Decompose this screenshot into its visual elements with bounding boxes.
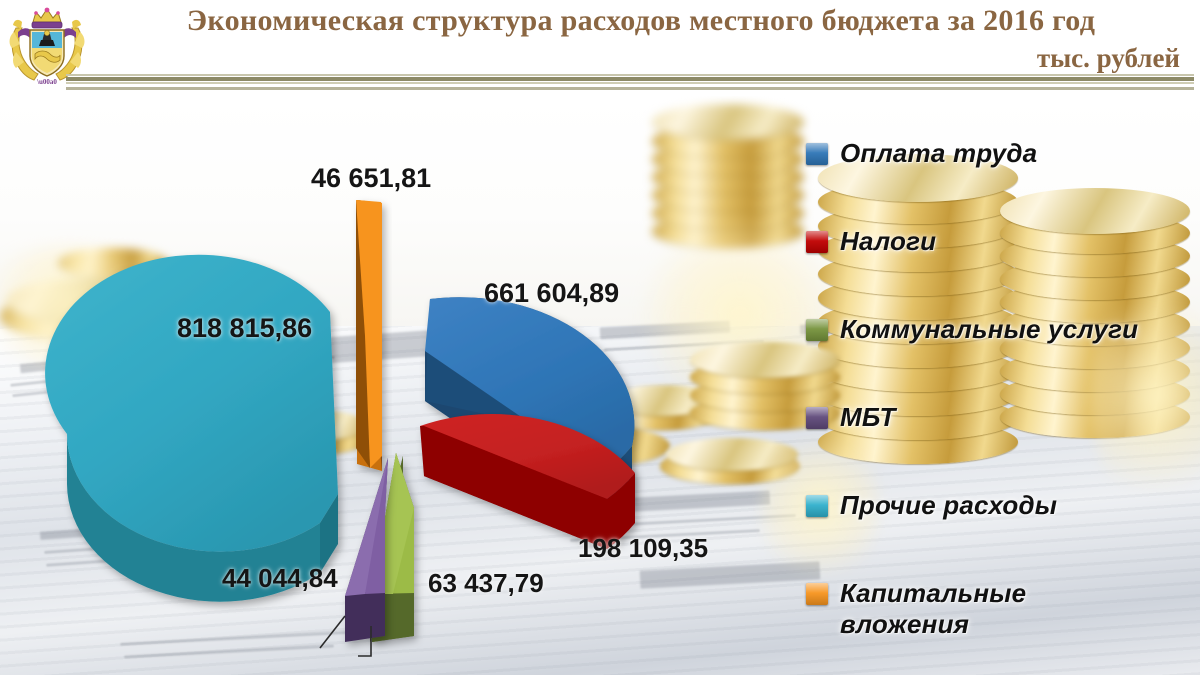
legend-swatch-oplata-truda	[806, 143, 828, 165]
pie-slice-kapitalnye-vlozheniya-face	[356, 200, 382, 468]
legend-swatch-mbt	[806, 407, 828, 429]
legend-label-nalogi: Налоги	[840, 226, 936, 257]
value-label-nalogi: 198 109,35	[578, 533, 708, 564]
legend-swatch-prochie-rashody	[806, 495, 828, 517]
legend-swatch-kapitalnye-vlozheniya	[806, 583, 828, 605]
divider-line-4	[66, 87, 1194, 90]
divider-line-2	[66, 77, 1194, 81]
value-label-kapitalnye-vlozheniya: 46 651,81	[311, 163, 431, 194]
legend-label-kapitalnye-vlozheniya: Капитальные вложения	[840, 578, 1090, 639]
value-label-kommunalnye-uslugi: 63 437,79	[428, 568, 544, 599]
units-label: тыс. рублей	[96, 44, 1186, 72]
page-title: Экономическая структура расходов местног…	[96, 4, 1186, 38]
chart-legend: Оплата труда Налоги Коммунальные услуги …	[806, 126, 1200, 656]
value-label-prochie-rashody: 818 815,86	[177, 313, 312, 344]
legend-label-kommunalnye-uslugi: Коммунальные услуги	[840, 314, 1138, 345]
legend-swatch-kommunalnye-uslugi	[806, 319, 828, 341]
crest-crown	[32, 8, 62, 28]
pie-slice-prochie-rashody[interactable]	[45, 255, 338, 602]
svg-text:\u00a0: \u00a0	[36, 78, 57, 86]
pie-slice-mbt[interactable]	[345, 458, 388, 642]
legend-swatch-nalogi	[806, 231, 828, 253]
divider-line-3	[66, 82, 1194, 84]
legend-item-kapitalnye-vlozheniya[interactable]: Капитальные вложения	[806, 578, 1200, 639]
legend-label-prochie-rashody: Прочие расходы	[840, 490, 1057, 521]
legend-item-oplata-truda[interactable]: Оплата труда	[806, 138, 1200, 169]
legend-item-mbt[interactable]: МБТ	[806, 402, 1200, 433]
slide-canvas: 46 651,81 661 604,89 818 815,86 198 109,…	[0, 0, 1200, 675]
divider-line-1	[66, 74, 1194, 76]
title-block: Экономическая структура расходов местног…	[96, 4, 1186, 72]
legend-item-prochie-rashody[interactable]: Прочие расходы	[806, 490, 1200, 521]
legend-label-oplata-truda: Оплата труда	[840, 138, 1037, 169]
slide-header: \u00a0 Экономическая структура расходов …	[0, 0, 1200, 96]
legend-item-kommunalnye-uslugi[interactable]: Коммунальные услуги	[806, 314, 1200, 345]
value-label-oplata-truda: 661 604,89	[484, 278, 619, 309]
crest-shield	[30, 30, 64, 76]
legend-item-nalogi[interactable]: Налоги	[806, 226, 1200, 257]
legend-label-mbt: МБТ	[840, 402, 896, 433]
value-label-mbt: 44 044,84	[222, 563, 338, 594]
